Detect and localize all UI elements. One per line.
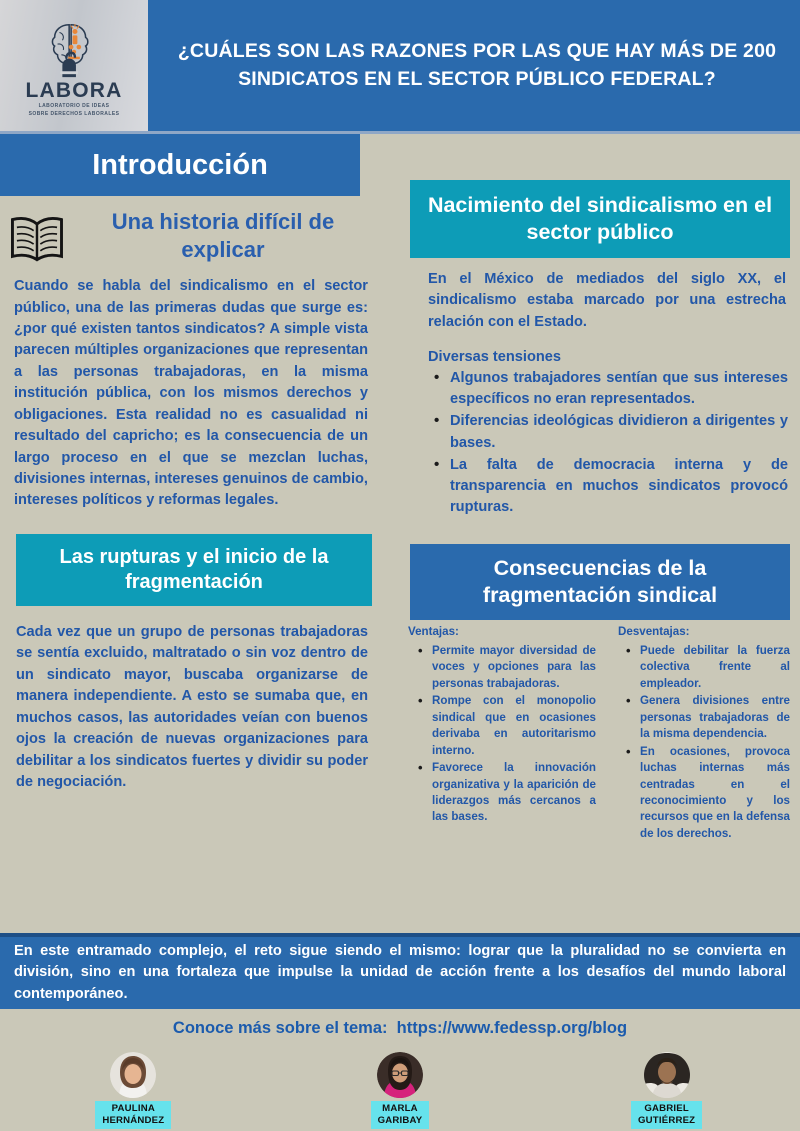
- authors-row: PAULINAHERNÁNDEZ MARLAGARIBAY: [0, 1052, 800, 1131]
- author-name-line-1: PAULINA: [112, 1103, 155, 1114]
- brain-fist-logo-icon: [43, 17, 105, 79]
- section-heading-consecuencias: Consecuencias de la fragmentación sindic…: [410, 544, 790, 620]
- header-title-band: ¿CUÁLES SON LAS RAZONES POR LAS QUE HAY …: [148, 0, 800, 131]
- section-heading-rupturas: Las rupturas y el inicio de la fragmenta…: [16, 534, 372, 606]
- logo-tagline-line-1: LABORATORIO DE IDEAS: [39, 103, 110, 110]
- section-heading-introduccion: Introducción: [0, 134, 360, 196]
- poster-header: LABORA LABORATORIO DE IDEAS SOBRE DERECH…: [0, 0, 800, 131]
- subhead-row: Una historia difícil de explicar: [0, 208, 388, 268]
- list-ventajas: Permite mayor diversidad de voces y opci…: [406, 643, 602, 826]
- ventajas-title: Ventajas:: [406, 620, 602, 640]
- author-card: MARLAGARIBAY: [315, 1052, 485, 1129]
- list-item: Permite mayor diversidad de voces y opci…: [432, 643, 596, 692]
- right-column: Nacimiento del sindicalismo en el sector…: [404, 180, 800, 843]
- cta-label: Conoce más sobre el tema:: [173, 1019, 388, 1037]
- author-name-line-2: GARIBAY: [378, 1115, 423, 1126]
- author-name-line-2: GUTIÉRREZ: [638, 1115, 695, 1126]
- author-name-line-2: HERNÁNDEZ: [102, 1115, 164, 1126]
- author-name: MARLAGARIBAY: [371, 1101, 430, 1129]
- list-item: Algunos trabajadores sentían que sus int…: [450, 368, 788, 410]
- paragraph-nacimiento: En el México de mediados del siglo XX, e…: [404, 258, 800, 333]
- author-name-line-1: GABRIEL: [644, 1103, 689, 1114]
- paragraph-cierre: En este entramado complejo, el reto sigu…: [0, 941, 800, 1005]
- author-card: PAULINAHERNÁNDEZ: [48, 1052, 218, 1129]
- paragraph-introduccion: Cuando se habla del sindicalismo en el s…: [0, 268, 388, 512]
- list-item: Puede debilitar la fuerza colectiva fren…: [640, 643, 790, 692]
- open-book-icon: [8, 214, 66, 268]
- author-name: PAULINAHERNÁNDEZ: [95, 1101, 171, 1129]
- logo-panel: LABORA LABORATORIO DE IDEAS SOBRE DERECH…: [0, 0, 148, 131]
- author-card: GABRIELGUTIÉRREZ: [582, 1052, 752, 1129]
- list-item: Genera divisiones entre personas trabaja…: [640, 693, 790, 742]
- desventajas-title: Desventajas:: [618, 620, 798, 640]
- section-heading-nacimiento: Nacimiento del sindicalismo en el sector…: [410, 180, 790, 258]
- author-name-line-1: MARLA: [382, 1103, 418, 1114]
- logo-wordmark: LABORA: [25, 80, 122, 101]
- subheading-diversas-tensiones: Diversas tensiones: [404, 333, 800, 365]
- desventajas-column: Desventajas: Puede debilitar la fuerza c…: [602, 620, 798, 843]
- avatar-paulina: [110, 1052, 156, 1098]
- poster-root: LABORA LABORATORIO DE IDEAS SOBRE DERECH…: [0, 0, 800, 1131]
- list-item: En ocasiones, provoca luchas internas má…: [640, 744, 790, 843]
- footer-band: En este entramado complejo, el reto sigu…: [0, 937, 800, 1009]
- author-name: GABRIELGUTIÉRREZ: [631, 1101, 702, 1129]
- page-title: ¿CUÁLES SON LAS RAZONES POR LAS QUE HAY …: [148, 38, 800, 93]
- subheading-historia-dificil: Una historia difícil de explicar: [66, 208, 376, 264]
- list-diversas-tensiones: Algunos trabajadores sentían que sus int…: [404, 368, 800, 518]
- list-item: Rompe con el monopolio sindical que en o…: [432, 693, 596, 759]
- paragraph-rupturas: Cada vez que un grupo de personas trabaj…: [0, 606, 388, 794]
- logo-tagline-line-2: SOBRE DERECHOS LABORALES: [29, 111, 120, 118]
- list-item: Favorece la innovación organizativa y la…: [432, 760, 596, 826]
- list-item: La falta de democracia interna y de tran…: [450, 455, 788, 518]
- cta-row: Conoce más sobre el tema: https://www.fe…: [0, 1019, 800, 1038]
- list-item: Diferencias ideológicas dividieron a dir…: [450, 411, 788, 453]
- ventajas-desventajas-wrapper: Ventajas: Permite mayor diversidad de vo…: [404, 620, 800, 843]
- avatar-gabriel: [644, 1052, 690, 1098]
- avatar-marla: [377, 1052, 423, 1098]
- left-column: Introducción Una historia difícil de exp…: [0, 134, 388, 793]
- ventajas-column: Ventajas: Permite mayor diversidad de vo…: [406, 620, 602, 843]
- list-desventajas: Puede debilitar la fuerza colectiva fren…: [618, 643, 798, 842]
- cta-link[interactable]: https://www.fedessp.org/blog: [397, 1019, 627, 1037]
